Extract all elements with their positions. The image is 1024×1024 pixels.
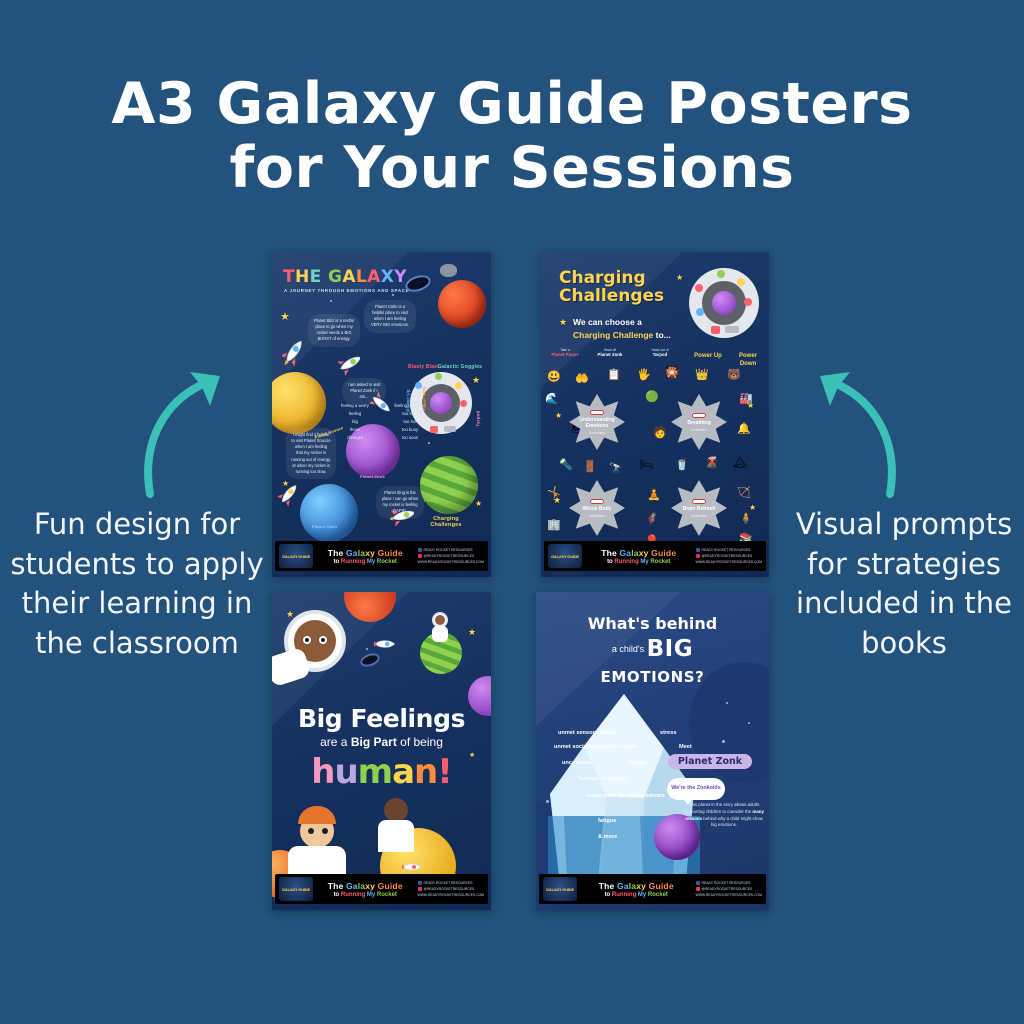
poster3-human-word: human! — [272, 752, 491, 792]
callout-blasty-blast: Blasty Blast — [408, 364, 439, 370]
mountain-icon: 🏔 — [733, 458, 747, 469]
footer-title: The Galaxy Guide — [577, 881, 696, 891]
option-power-up: Power Up — [691, 352, 725, 360]
star-dot — [428, 442, 430, 444]
feeling-item: feeling a worry — [334, 402, 376, 410]
archer-icon: 🏹 — [737, 488, 751, 499]
planet-zonk-bubble: I am asked to visit Planet Zonk if I am.… — [342, 378, 386, 404]
planet-zing — [420, 456, 478, 514]
control-wheel-core — [712, 291, 736, 315]
wheel-stop-button — [430, 426, 438, 433]
planet-zonk-badge: Planet Zonk — [668, 754, 752, 769]
iceberg-item-6: unmet need for independence — [584, 792, 666, 800]
zonkoids-speech-bubble: We're the Zonkoids — [667, 778, 725, 800]
poster2-lead-line1: We can choose a — [573, 317, 642, 327]
poster4-title-line1: What's behind — [536, 614, 769, 633]
child-labcoat-right — [378, 820, 414, 852]
brand-logo: GALAXY GUIDE — [543, 877, 577, 901]
star-icon: ★ — [559, 318, 567, 327]
poster3-subtitle: are a Big Part of being — [272, 735, 491, 749]
brand-logo: GALAXY GUIDE — [548, 544, 582, 568]
footer-subtitle: to Running My Rocket — [577, 892, 696, 898]
brand-logo: GALAXY GUIDE — [279, 544, 313, 568]
hand-icon: 🖐 — [637, 370, 651, 381]
iceberg-item-7: fatigue — [598, 818, 616, 824]
iceberg-item-2: unmet social connection needs — [554, 744, 637, 750]
planet-snooze-bubble: I might find it helpful to visit Planet … — [286, 428, 336, 479]
astronaut-pupil-right — [321, 638, 325, 642]
meditate-icon: 🧘 — [647, 490, 661, 501]
wheel-button-green — [435, 373, 442, 380]
feeling-item: too busy — [390, 426, 430, 434]
asteroid-icon — [440, 264, 457, 277]
footer-subtitle: to Running My Rocket — [582, 559, 696, 565]
wave-icon: 🌊 — [545, 394, 559, 405]
option-power-down: Power Down — [731, 352, 765, 368]
poster4-footer: GALAXY GUIDE The Galaxy Guide to Running… — [539, 874, 766, 904]
callout-charging-challenges: Charging Challenges — [420, 516, 472, 528]
facebook-icon — [696, 548, 700, 552]
facebook-icon — [418, 881, 422, 885]
poster4-title-line3: EMOTIONS? — [536, 668, 769, 686]
footer-brand-text: The Galaxy Guide to Running My Rocket — [313, 881, 418, 898]
bear-icon: 🐻 — [727, 370, 741, 381]
footer-subtitle: to Running My Rocket — [313, 892, 418, 898]
option-planet-pause: Take a Planet Pause — [545, 348, 585, 358]
badge-understanding-emotions[interactable]: Understanding Emotions Activities — [569, 394, 625, 450]
star-dot — [330, 300, 332, 302]
telescope-icon: 🔭 — [609, 464, 623, 475]
star-dot — [722, 740, 725, 743]
hero-icon: 🦸 — [645, 514, 659, 525]
astronaut-pupil-left — [305, 638, 309, 642]
wheel-button-blue — [696, 308, 704, 316]
star-icon: ★ — [475, 500, 482, 508]
crown-icon: 👑 — [695, 370, 709, 381]
star-dot — [726, 702, 728, 704]
clipboard-icon: 📋 — [607, 370, 621, 381]
child-eye-right — [322, 828, 328, 834]
smiley-icon: 😃 — [547, 372, 561, 383]
footer-brand-text: The Galaxy Guide to Running My Rocket — [313, 548, 418, 565]
star-icon: ★ — [555, 412, 562, 420]
planet-label-calm: Planet Calm — [312, 524, 337, 529]
caption-left: Fun design for students to apply their l… — [6, 505, 268, 664]
poster-big-emotions[interactable]: What's behind a child's BIG EMOTIONS? un… — [536, 592, 769, 910]
star-icon: ★ — [472, 376, 480, 385]
bell-icon: 🔔 — [737, 424, 751, 435]
footer-brand-text: The Galaxy Guide to Running My Rocket — [577, 881, 696, 898]
instagram-icon — [418, 554, 422, 558]
iceberg-item-4: hunger — [628, 760, 647, 766]
person2-icon: 🧍 — [739, 514, 753, 525]
option-tarpod: Head out of Tarpod — [639, 348, 681, 358]
page-title: A3 Galaxy Guide Posters for Your Session… — [0, 72, 1024, 201]
wheel-slider — [725, 326, 739, 333]
facebook-icon — [418, 548, 422, 552]
badge-marker-icon — [692, 499, 706, 504]
poster4-paragraph: This planet in the story allows adults s… — [684, 802, 764, 829]
badge-marker-icon — [692, 413, 706, 418]
wheel-button-red — [460, 400, 467, 407]
badge-whole-body[interactable]: Whole Body Activities — [569, 480, 625, 536]
poster3-title: Big Feelings — [272, 704, 491, 733]
arrow-left-icon — [128, 352, 248, 502]
website-url: WWW.READYROCKETRESOURCES.COM — [418, 559, 485, 565]
rocket-icon — [338, 350, 360, 378]
footer-title: The Galaxy Guide — [313, 881, 418, 891]
footer-subtitle: to Running My Rocket — [313, 559, 418, 565]
wheel-slider — [444, 426, 456, 432]
poster1-subtitle: A JOURNEY THROUGH EMOTIONS AND SPACE — [284, 288, 409, 293]
iceberg-item-0: unmet sensory needs — [558, 730, 616, 736]
poster2-footer: GALAXY GUIDE The Galaxy Guide to Running… — [544, 541, 766, 571]
planet-blitz-bubble: Planet Blitz is a restful place to go wh… — [308, 314, 360, 347]
meet-label: Meet — [679, 744, 692, 750]
feeling-item: too hot — [390, 418, 430, 426]
footer-brand-text: The Galaxy Guide to Running My Rocket — [582, 548, 696, 565]
hands-icon: 🤲 — [575, 374, 589, 385]
wheel-stop-button — [711, 326, 720, 334]
gate-icon: 🚪 — [583, 462, 597, 473]
feelings-list-left: feeling a worry feeling big these change… — [334, 402, 376, 442]
iceberg-item-3: uncertainty — [562, 760, 592, 766]
star-dot — [392, 294, 394, 296]
poster1-footer: GALAXY GUIDE The Galaxy Guide to Running… — [275, 541, 488, 571]
poster3-footer: GALAXY GUIDE The Galaxy Guide to Running… — [275, 874, 488, 904]
planet-calm-bubble: Planet Calm is a helpful place to visit … — [364, 300, 416, 333]
hammock-icon: 🛏 — [639, 460, 653, 471]
feeling-item: too soon — [390, 434, 430, 442]
footer-title: The Galaxy Guide — [313, 548, 418, 558]
iceberg-item-1: stress — [660, 730, 676, 736]
instagram-icon — [696, 887, 700, 891]
website-url: WWW.READYROCKETRESOURCES.COM — [696, 559, 763, 565]
star-dot — [748, 722, 750, 724]
callout-tarpod: Tarpod — [476, 410, 481, 426]
planet-label-blitz: Planet Blitz — [421, 387, 426, 411]
footer-title: The Galaxy Guide — [582, 548, 696, 558]
iceberg-item-5: feelings of danger — [578, 776, 626, 782]
rocket-icon — [282, 338, 304, 368]
star-icon: ★ — [749, 504, 756, 512]
sparkler-icon: 🎇 — [665, 368, 679, 379]
poster-charging-challenges[interactable]: ★ ★ ★ ★ ★ ★ Charging Challenges We can c… — [541, 252, 769, 577]
feeling-item: changes — [334, 434, 376, 442]
factory-icon: 🏭 — [739, 394, 753, 405]
arrow-right-icon — [792, 352, 912, 502]
caption-right: Visual prompts for strategies included i… — [790, 505, 1018, 664]
legs-icon: 🤸 — [547, 488, 561, 499]
building-icon: 🏢 — [547, 520, 561, 531]
poster2-lead-tail: to... — [653, 330, 670, 340]
astronaut-small-face — [435, 615, 445, 625]
website-url: WWW.READYROCKETRESOURCES.COM — [696, 892, 763, 898]
callout-galactic-goggles: Galactic Goggles — [438, 364, 482, 370]
rocket-icon — [402, 860, 422, 874]
star-icon: ★ — [468, 628, 476, 637]
volcano-icon: 🌋 — [705, 458, 719, 469]
poster2-title-line1: Charging — [559, 269, 689, 287]
poster2-title: Charging Challenges — [559, 269, 689, 305]
star-dot — [366, 648, 368, 650]
control-wheel-core — [430, 392, 452, 414]
child-eye-left — [308, 828, 314, 834]
person-icon: 🧑 — [653, 428, 667, 439]
rocket-icon — [374, 636, 396, 652]
flashlight-icon: 🔦 — [559, 460, 573, 471]
page-title-line1: A3 Galaxy Guide Posters — [111, 71, 912, 137]
footer-contacts: READY ROCKET RESOURCES @READYROCKETRESOU… — [418, 547, 485, 566]
badge-brain-refresh[interactable]: Brain Refresh Activities — [671, 480, 727, 536]
instagram-icon — [696, 554, 700, 558]
wheel-button-yellow — [455, 382, 462, 389]
option-planet-zonk: Head off Planet Zonk — [589, 348, 631, 358]
poster2-title-line2: Challenges — [559, 287, 689, 305]
wheel-button-yellow — [737, 278, 745, 286]
wheel-button-red — [744, 298, 752, 306]
poster4-title-line2: a child's BIG — [536, 636, 769, 662]
footer-contacts: READY ROCKET RESOURCES @READYROCKETRESOU… — [696, 547, 763, 566]
planet-label-zonk: Planet Zonk — [360, 474, 385, 479]
planet-blitz — [438, 280, 486, 328]
footer-contacts: READY ROCKET RESOURCES @READYROCKETRESOU… — [418, 880, 485, 899]
poster-the-galaxy[interactable]: ★ ★ ★ ★ ★ THE GALAXY A JOURNEY THROUGH E… — [272, 252, 491, 577]
star-icon: ★ — [280, 312, 290, 323]
iceberg-item-8: & more — [598, 834, 617, 840]
badge-breathing[interactable]: Breathing Activities — [671, 394, 727, 450]
callout-power-up: Power Up — [406, 389, 411, 411]
footer-contacts: READY ROCKET RESOURCES @READYROCKETRESOU… — [696, 880, 763, 899]
planet-zing-bubble: Planet Zing is the place I can go when m… — [376, 486, 424, 519]
astronaut-small-body — [432, 626, 448, 642]
facebook-icon — [696, 881, 700, 885]
splat-icon: 🟢 — [645, 392, 659, 403]
badge-marker-icon — [590, 499, 604, 504]
wheel-button-green — [717, 270, 725, 278]
drink-icon: 🥤 — [675, 460, 689, 471]
rocket-icon — [278, 482, 298, 508]
wheel-button-red2 — [695, 284, 703, 292]
website-url: WWW.READYROCKETRESOURCES.COM — [418, 892, 485, 898]
poster-big-feelings[interactable]: ★ ★ ★ Big Feelings are a Big Part of bei — [272, 592, 491, 910]
planet-calm — [300, 484, 358, 542]
poster1-title: THE GALAXY — [283, 267, 407, 287]
brand-logo: GALAXY GUIDE — [279, 877, 313, 901]
planet-label-zing: Planet Zing — [424, 498, 448, 503]
feeling-item: feeling — [334, 410, 376, 418]
instagram-icon — [418, 887, 422, 891]
badge-marker-icon — [590, 410, 604, 415]
poster2-lead-highlight: Charging Challenge — [573, 330, 653, 340]
child-face-right — [384, 798, 408, 822]
page-title-line2: for Your Sessions — [0, 136, 1024, 200]
